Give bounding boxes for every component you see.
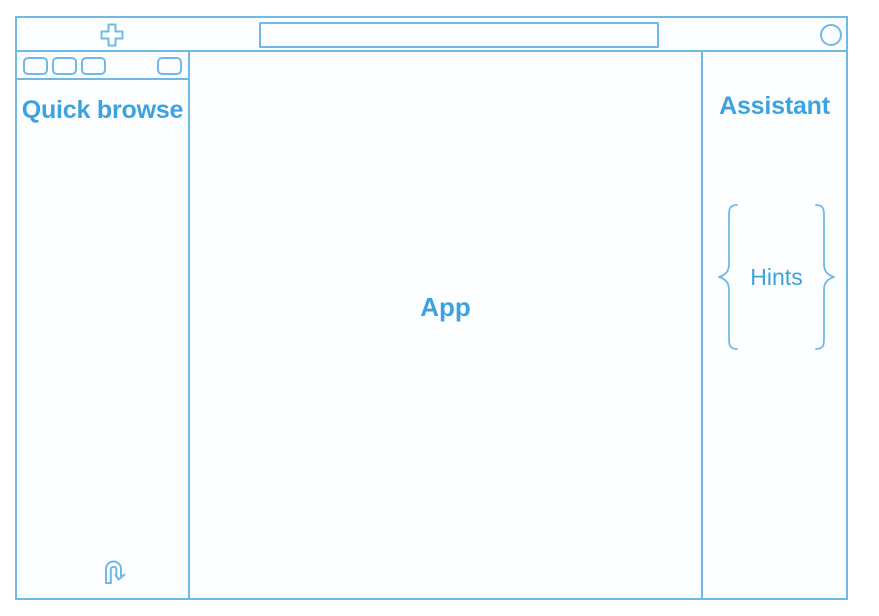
window-body: Quick browse App Assistant [17, 52, 846, 598]
sidebar-tool-chip-2[interactable] [52, 57, 77, 75]
sidebar-toolbar [17, 52, 188, 80]
assistant-title: Assistant [703, 92, 846, 121]
u-turn-arrow-icon[interactable] [99, 554, 133, 588]
right-curly-brace-icon [812, 202, 838, 352]
plus-icon[interactable] [99, 23, 125, 47]
sidebar-title: Quick browse [17, 94, 188, 128]
sidebar-tool-chip-1[interactable] [23, 57, 48, 75]
circle-avatar-icon[interactable] [820, 24, 842, 46]
main-app-label: App [190, 34, 701, 580]
sidebar-tool-chip-4[interactable] [157, 57, 182, 75]
wireframe-root: Quick browse App Assistant [0, 0, 879, 616]
assistant-panel: Assistant Hints [701, 52, 846, 598]
main-app-panel: App [190, 52, 701, 598]
sidebar-tool-chip-3[interactable] [81, 57, 106, 75]
app-window-frame: Quick browse App Assistant [15, 16, 848, 600]
hints-block: Hints [711, 202, 842, 352]
sidebar-panel: Quick browse [17, 52, 190, 598]
